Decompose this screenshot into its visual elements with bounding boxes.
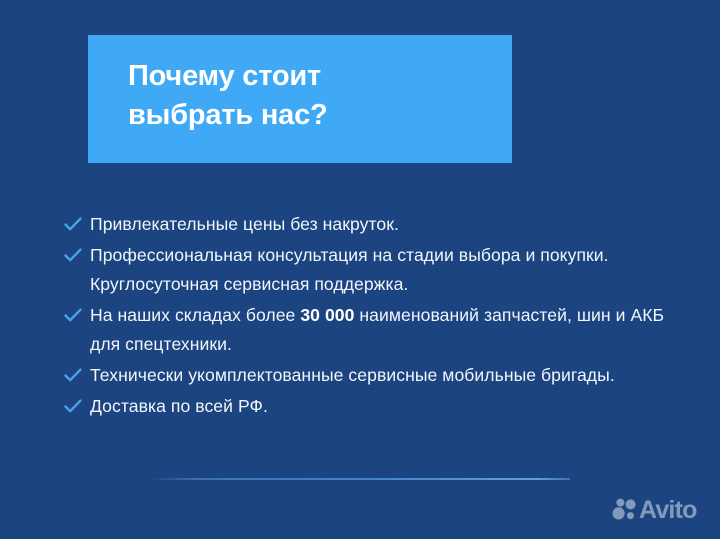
list-item: На наших складах более 30 000 наименован… xyxy=(62,301,682,359)
list-item: Технически укомплектованные сервисные мо… xyxy=(62,361,682,390)
list-item-label: На наших складах более 30 000 наименован… xyxy=(84,301,682,359)
list-item: Доставка по всей РФ. xyxy=(62,392,682,421)
list-item-label: Технически укомплектованные сервисные мо… xyxy=(84,361,682,390)
check-icon xyxy=(62,213,84,239)
avito-watermark: Avito xyxy=(611,497,697,523)
avito-dots-icon xyxy=(611,497,637,523)
benefits-list: Привлекательные цены без накруток. Профе… xyxy=(62,210,682,423)
list-item-label: Доставка по всей РФ. xyxy=(84,392,682,421)
divider xyxy=(148,478,570,480)
list-item-label: Профессиональная консультация на стадии … xyxy=(84,241,682,299)
check-icon xyxy=(62,364,84,390)
page-title: Почему стоит выбрать нас? xyxy=(128,57,512,134)
check-icon xyxy=(62,244,84,270)
slide-canvas: Почему стоит выбрать нас? Привлекательны… xyxy=(0,0,720,539)
list-item-label: Привлекательные цены без накруток. xyxy=(84,210,682,239)
list-item: Профессиональная консультация на стадии … xyxy=(62,241,682,299)
list-item: Привлекательные цены без накруток. xyxy=(62,210,682,239)
title-banner: Почему стоит выбрать нас? xyxy=(88,35,512,163)
avito-wordmark: Avito xyxy=(639,497,697,523)
check-icon xyxy=(62,304,84,330)
check-icon xyxy=(62,395,84,421)
